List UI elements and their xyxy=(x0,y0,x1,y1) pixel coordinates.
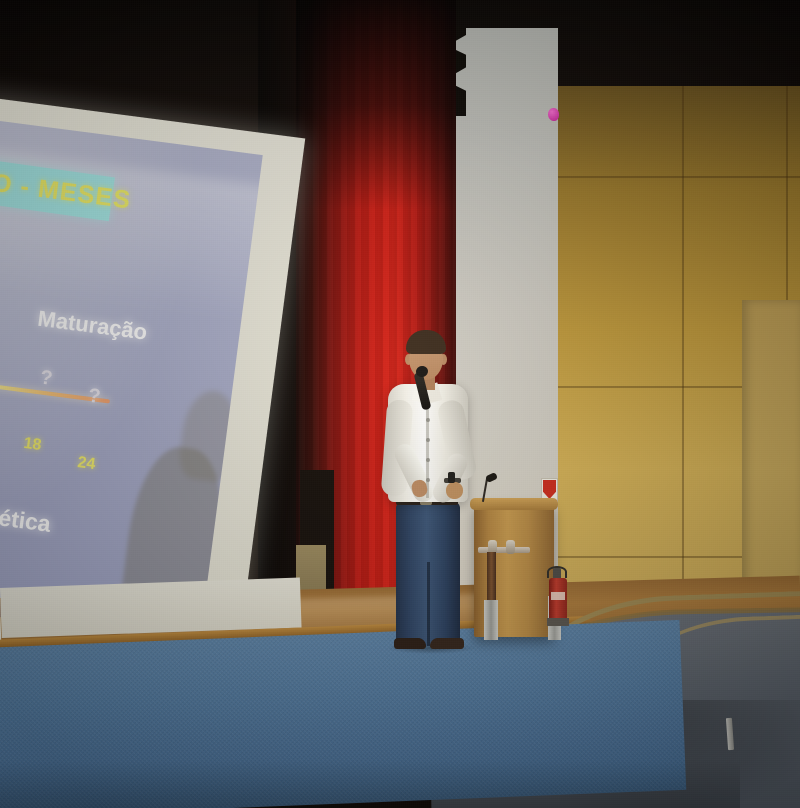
fire-extinguisher-icon xyxy=(549,578,567,622)
carpet-shadow xyxy=(0,760,740,808)
presenter-shirt-placket xyxy=(426,398,429,498)
slide-label-maturacao: Maturação xyxy=(36,306,148,346)
presenter-shoe-left xyxy=(394,638,426,649)
shirt-button-3 xyxy=(426,458,430,462)
shirt-button-2 xyxy=(426,438,430,442)
shirt-button-1 xyxy=(426,418,430,422)
presenter-jeans-seam xyxy=(427,562,430,646)
timeline-question-2: ? xyxy=(87,385,102,409)
lecture-hall-photo: M APOIO - MESES Prontidão Maturação Gené… xyxy=(0,0,800,808)
pink-balloon-icon xyxy=(548,108,559,121)
shirt-button-4 xyxy=(426,478,430,482)
podium-knob-2 xyxy=(506,540,515,554)
timeline-question-1: ? xyxy=(39,366,54,390)
timeline-tick-24: 24 xyxy=(76,454,96,474)
slide-label-genetica: Genética xyxy=(0,499,52,538)
fire-extinguisher-label xyxy=(551,592,565,600)
presentation-clicker-icon xyxy=(448,472,455,483)
curtain-top-shadow xyxy=(296,0,456,210)
fire-extinguisher-stand xyxy=(547,618,569,626)
presenter-shoe-right xyxy=(430,638,464,649)
presenter xyxy=(370,330,490,650)
timeline-tick-18: 18 xyxy=(22,435,42,455)
presenter-hair xyxy=(406,330,446,354)
presenter-hand-right xyxy=(446,482,463,499)
